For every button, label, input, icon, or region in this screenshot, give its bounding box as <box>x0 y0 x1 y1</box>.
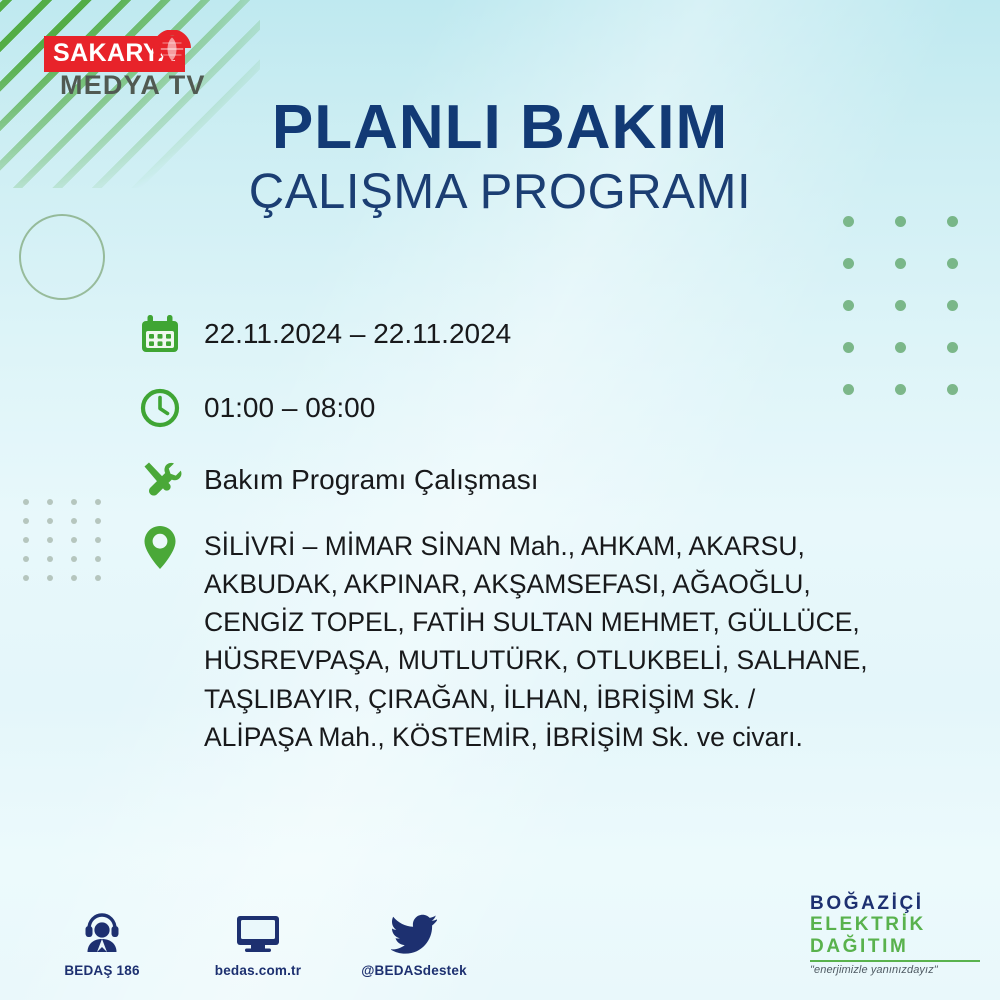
decoration-dot <box>71 537 77 543</box>
decoration-dot <box>23 518 29 524</box>
decoration-dot <box>843 258 854 269</box>
brand-secondary-label: MEDYA TV <box>60 72 206 99</box>
decoration-dot <box>895 258 906 269</box>
decoration-dot <box>47 556 53 562</box>
decoration-dot <box>47 575 53 581</box>
address-line: HÜSREVPAŞA, MUTLUTÜRK, OTLUKBELİ, SALHAN… <box>204 641 868 679</box>
contact-twitter[interactable]: @BEDASdestek <box>358 912 470 978</box>
decoration-dot <box>71 556 77 562</box>
company-logo-line1: BOĞAZİÇİ <box>810 894 980 915</box>
decoration-dot <box>23 537 29 543</box>
monitor-icon <box>234 912 282 954</box>
tools-icon <box>136 456 184 504</box>
decoration-dot <box>95 499 101 505</box>
address-line: ALİPAŞA Mah., KÖSTEMİR, İBRİŞİM Sk. ve c… <box>204 718 868 756</box>
page-subtitle: ÇALIŞMA PROGRAMI <box>0 164 1000 221</box>
decoration-dot <box>895 300 906 311</box>
info-block: 22.11.2024 – 22.11.2024 01:00 – 08:00 <box>136 312 940 778</box>
decoration-dot <box>947 258 958 269</box>
address-line: AKBUDAK, AKPINAR, AKŞAMSEFASI, AĞAOĞLU, <box>204 565 868 603</box>
address-line: SİLİVRİ – MİMAR SİNAN Mah., AHKAM, AKARS… <box>204 527 868 565</box>
time-row: 01:00 – 08:00 <box>136 386 940 432</box>
decoration-dot <box>47 518 53 524</box>
decoration-dot <box>95 518 101 524</box>
globe-swoosh-icon <box>149 30 195 72</box>
page-title: PLANLI BAKIM <box>0 96 1000 160</box>
date-value: 22.11.2024 – 22.11.2024 <box>204 312 511 348</box>
decoration-dot <box>843 300 854 311</box>
date-row: 22.11.2024 – 22.11.2024 <box>136 312 940 358</box>
footer-contacts: BEDAŞ 186 bedas.com.tr @BEDASdestek <box>46 912 470 978</box>
calendar-icon <box>136 310 184 358</box>
call-center-agent-icon <box>80 912 124 954</box>
decoration-dot <box>47 537 53 543</box>
decoration-dot <box>71 499 77 505</box>
decoration-dot <box>23 556 29 562</box>
decoration-dot <box>23 499 29 505</box>
company-logo-line2: ELEKTRİK <box>810 914 980 935</box>
address-line: TAŞLIBAYIR, ÇIRAĞAN, İLHAN, İBRİŞİM Sk. … <box>204 680 868 718</box>
contact-website-label: bedas.com.tr <box>215 963 301 978</box>
work-type-value: Bakım Programı Çalışması <box>204 458 539 494</box>
company-logo-divider <box>810 960 980 962</box>
dot-grid-left-decoration <box>14 492 110 587</box>
work-type-row: Bakım Programı Çalışması <box>136 458 940 504</box>
location-pin-icon <box>136 524 184 572</box>
decoration-dot <box>947 384 958 395</box>
decoration-dot <box>947 300 958 311</box>
time-value: 01:00 – 08:00 <box>204 386 375 422</box>
contact-twitter-label: @BEDASdestek <box>361 963 467 978</box>
decoration-dot <box>95 556 101 562</box>
decoration-dot <box>95 575 101 581</box>
decoration-dot <box>95 537 101 543</box>
decoration-dot <box>71 575 77 581</box>
company-logo-line3: DAĞITIM <box>810 936 980 957</box>
contact-phone[interactable]: BEDAŞ 186 <box>46 912 158 978</box>
contact-phone-label: BEDAŞ 186 <box>64 963 139 978</box>
decoration-dot <box>23 575 29 581</box>
sakarya-medya-tv-logo: SAKARYA MEDYA TV <box>44 36 219 102</box>
decoration-dot <box>71 518 77 524</box>
decoration-dot <box>47 499 53 505</box>
circle-outline-decoration <box>19 214 105 300</box>
address-line: CENGİZ TOPEL, FATİH SULTAN MEHMET, GÜLLÜ… <box>204 603 868 641</box>
company-logo-tagline: "enerjimizle yanınızdayız" <box>810 964 980 976</box>
location-address-lines: SİLİVRİ – MİMAR SİNAN Mah., AHKAM, AKARS… <box>204 526 868 756</box>
decoration-dot <box>947 342 958 353</box>
contact-website[interactable]: bedas.com.tr <box>202 912 314 978</box>
location-row: SİLİVRİ – MİMAR SİNAN Mah., AHKAM, AKARS… <box>136 526 940 756</box>
twitter-bird-icon <box>391 912 437 954</box>
bedas-company-logo: BOĞAZİÇİ ELEKTRİK DAĞITIM "enerjimizle y… <box>810 894 980 976</box>
clock-icon <box>136 384 184 432</box>
headline-block: PLANLI BAKIM ÇALIŞMA PROGRAMI <box>0 96 1000 221</box>
poster-canvas: SAKARYA MEDYA TV PLANLI BAKIM ÇALIŞMA PR… <box>0 0 1000 1000</box>
